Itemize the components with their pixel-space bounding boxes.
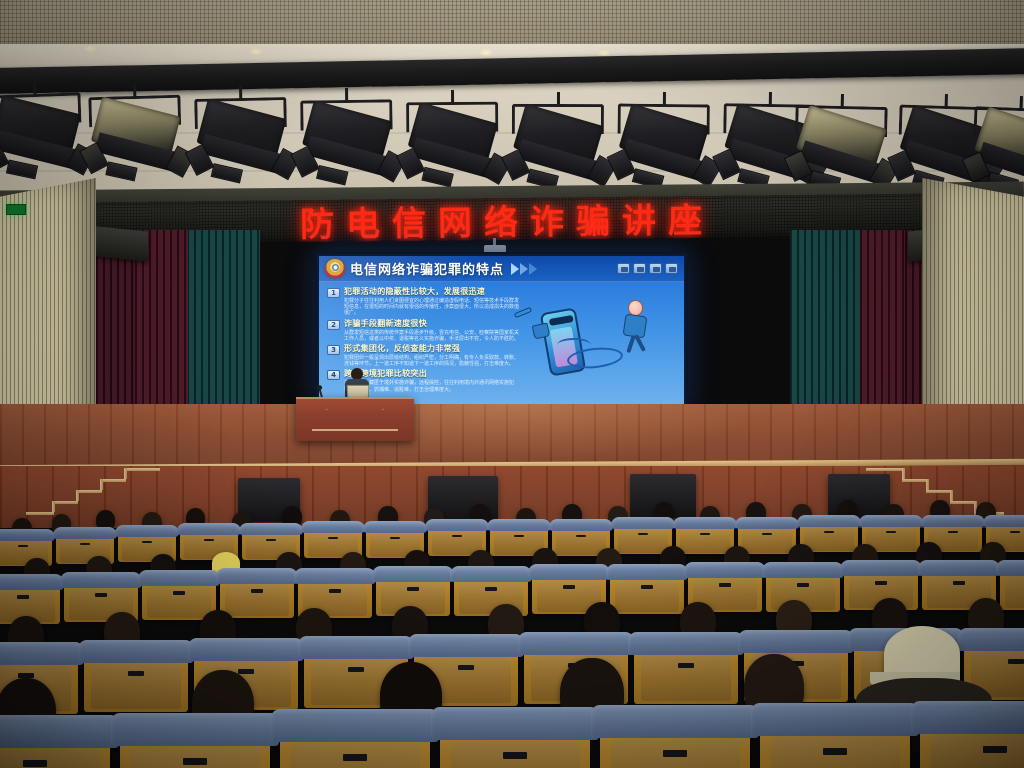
bullet-subtext: 犯罪团伙一般呈现出层级结构，组织严密，分工明确，有专人负责取款、转账、洗钱等环节… bbox=[344, 355, 523, 367]
wooden-lecture-desk bbox=[296, 397, 414, 441]
user-icon bbox=[617, 263, 630, 274]
attendee-beige-cap bbox=[884, 626, 960, 682]
bullet-heading: 犯罪活动的隐蔽性比较大，发展很迅速 bbox=[344, 287, 523, 297]
auditorium-seat bbox=[120, 722, 270, 768]
bullet-heading: 诈骗手段翻新速度很快 bbox=[344, 319, 523, 329]
slide-illustration bbox=[527, 282, 684, 406]
bullet-number: 2 bbox=[327, 320, 340, 330]
bullet-number: 1 bbox=[327, 288, 340, 298]
bullet-heading: 形式集团化，反侦查能力非常强 bbox=[344, 344, 523, 354]
bullet-subtext: 犯罪分子往往利用人们贪图便宜的心理通过编造虚假电话、短信等技术手段群发短信息，在… bbox=[344, 298, 523, 317]
save-icon bbox=[633, 263, 646, 274]
auditorium-seat bbox=[676, 520, 734, 554]
slide-header: 电信网络诈骗犯罪的特点 bbox=[319, 256, 684, 282]
bullet-number: 3 bbox=[327, 345, 340, 355]
desk-trim-line bbox=[312, 429, 398, 431]
cartoon-running-victim bbox=[620, 300, 654, 362]
ceiling-downlight bbox=[480, 49, 492, 56]
chevron-right-icon bbox=[511, 263, 537, 275]
auditorium-seat bbox=[920, 710, 1024, 768]
auditorium-seat bbox=[600, 714, 750, 768]
bullet-subtext: 从群发短信这类的传统作案手段逐步升级，冒充电信、公安、检察院等国家机关工作人员，… bbox=[344, 330, 523, 342]
auditorium-seat bbox=[0, 724, 110, 768]
auditorium-seat bbox=[634, 638, 738, 704]
slide-bullet-item: 1 犯罪活动的隐蔽性比较大，发展很迅速 犯罪分子往往利用人们贪图便宜的心理通过编… bbox=[327, 287, 523, 317]
auditorium-photo: 防电信网络诈骗讲座 电信网络诈骗犯罪的特点 bbox=[0, 0, 1024, 768]
audience-seating-area bbox=[0, 466, 1024, 768]
auditorium-seat bbox=[280, 718, 430, 768]
slide-bullet-item: 3 形式集团化，反侦查能力非常强 犯罪团伙一般呈现出层级结构，组织严密，分工明确… bbox=[327, 344, 523, 367]
auditorium-seat bbox=[738, 520, 796, 554]
slide-bullet-item: 2 诈骗手段翻新速度很快 从群发短信这类的传统作案手段逐步升级，冒充电信、公安、… bbox=[327, 319, 523, 342]
camera-icon bbox=[649, 263, 662, 274]
slide-header-icons bbox=[617, 263, 678, 274]
desk-panel-detail bbox=[322, 409, 388, 420]
auditorium-seat bbox=[760, 712, 910, 768]
police-badge-icon bbox=[325, 259, 345, 278]
auditorium-seat bbox=[610, 568, 684, 614]
print-icon bbox=[665, 263, 678, 274]
exit-sign bbox=[6, 204, 26, 215]
slide-body: 1 犯罪活动的隐蔽性比较大，发展很迅速 犯罪分子往往利用人们贪图便宜的心理通过编… bbox=[319, 282, 684, 406]
auditorium-seat bbox=[1000, 564, 1024, 610]
ceiling-downlight bbox=[250, 48, 262, 55]
auditorium-seat bbox=[142, 574, 216, 620]
bullet-heading: 跨国跨境犯罪比较突出 bbox=[344, 369, 523, 379]
projection-screen: 电信网络诈骗犯罪的特点 1 犯罪活动的隐蔽性比较大，发展很迅速 bbox=[315, 252, 688, 410]
slide-title: 电信网络诈骗犯罪的特点 bbox=[350, 259, 504, 278]
perforated-acoustic-ceiling bbox=[0, 0, 1024, 46]
bullet-subtext: 不法分子多藏匿于境外实施诈骗，远程操控，往往利用境内外通讯网络实施犯罪，取证难、… bbox=[344, 380, 523, 392]
auditorium-seat bbox=[220, 572, 294, 618]
led-banner-text: 防电信网络诈骗讲座 bbox=[300, 193, 714, 245]
auditorium-seat bbox=[440, 716, 590, 768]
auditorium-seat bbox=[84, 646, 188, 712]
bullet-number: 4 bbox=[327, 370, 340, 380]
presentation-slide: 电信网络诈骗犯罪的特点 1 犯罪活动的隐蔽性比较大，发展很迅速 bbox=[319, 256, 684, 406]
ceiling-downlight bbox=[84, 45, 96, 52]
